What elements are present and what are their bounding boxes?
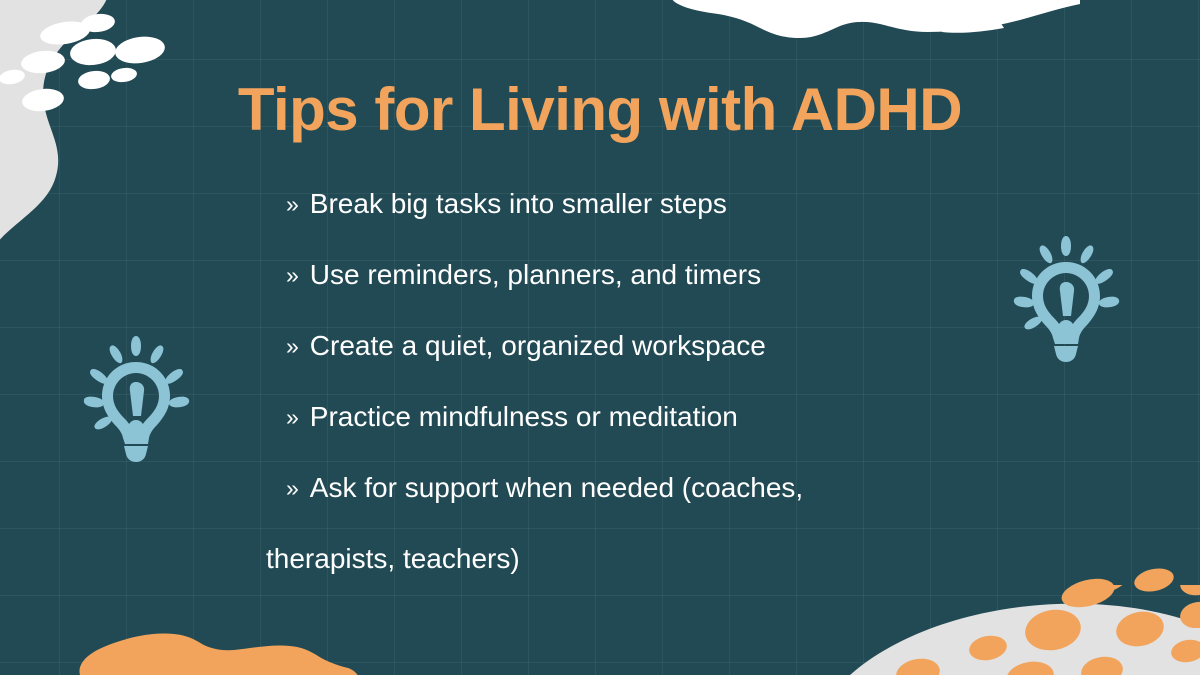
page-title: Tips for Living with ADHD (0, 78, 1200, 141)
bottom-right-orange-dots (1040, 568, 1200, 628)
bullet-marker-icon: » (286, 475, 299, 502)
bullet-marker-icon: » (286, 191, 299, 218)
bullet-marker-icon: » (286, 404, 299, 431)
list-item: » Use reminders, planners, and timers (286, 259, 986, 330)
list-item-label-continued: therapists, teachers) (266, 543, 520, 575)
bullet-marker-icon: » (286, 262, 299, 289)
list-item: » Create a quiet, organized workspace (286, 330, 986, 401)
list-item-label: Break big tasks into smaller steps (310, 188, 727, 220)
tips-list: » Break big tasks into smaller steps » U… (286, 188, 986, 614)
top-white-brush-stroke (660, 0, 1080, 50)
list-item-label: Create a quiet, organized workspace (310, 330, 766, 362)
bullet-marker-icon: » (286, 333, 299, 360)
list-item-label: Ask for support when needed (coaches, (310, 472, 803, 504)
list-item-label: Use reminders, planners, and timers (310, 259, 761, 291)
list-item-continuation: therapists, teachers) (266, 543, 986, 614)
lightbulb-exclamation-icon-left (78, 332, 198, 462)
list-item: » Practice mindfulness or meditation (286, 401, 986, 472)
list-item: » Break big tasks into smaller steps (286, 188, 986, 259)
bottom-left-orange-brush-stroke (30, 620, 360, 675)
list-item-label: Practice mindfulness or meditation (310, 401, 738, 433)
slide-canvas: Tips for Living with ADHD » Break big ta… (0, 0, 1200, 675)
lightbulb-exclamation-icon-right (1008, 232, 1128, 362)
list-item: » Ask for support when needed (coaches, (286, 472, 986, 543)
